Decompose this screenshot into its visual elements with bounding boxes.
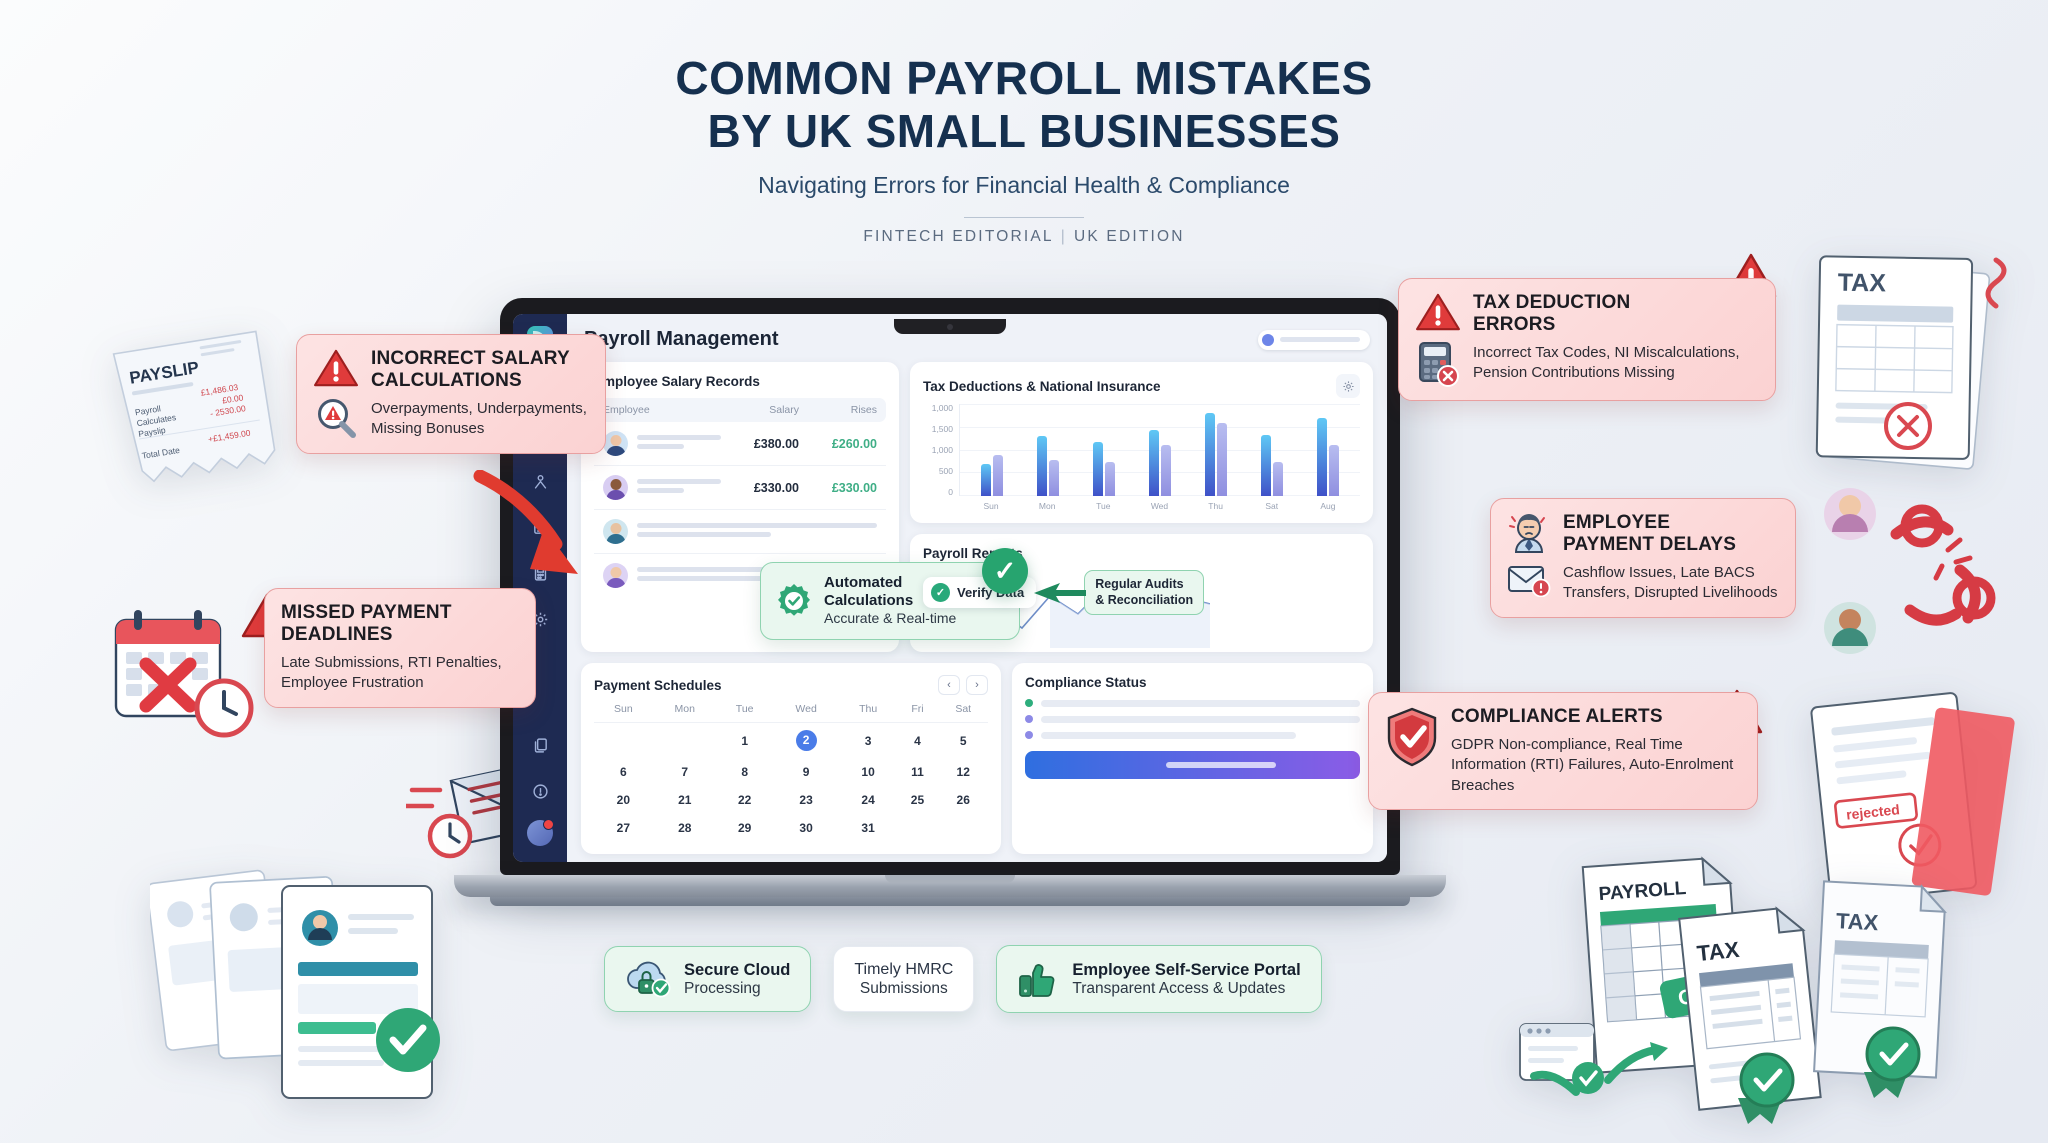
footer-pill-row: Secure Cloud Processing Timely HMRC Subm… — [604, 945, 1322, 1013]
callout-icons — [1507, 512, 1551, 604]
chart-bar — [1037, 436, 1047, 496]
calendar-day-empty — [594, 723, 653, 759]
column-employee: Employee — [603, 404, 721, 416]
calculator-error-icon — [1416, 341, 1460, 387]
calendar-weekday: Mon — [653, 703, 717, 723]
calendar-weekday: Wed — [772, 703, 839, 723]
employee-name-placeholder — [637, 479, 721, 497]
calendar-weekday: Thu — [840, 703, 897, 723]
callout-tax-deduction-errors: TAX DEDUCTIONERRORS Incorrect Tax Codes,… — [1398, 278, 1776, 401]
compliance-card-title: Compliance Status — [1025, 675, 1360, 690]
next-month-button[interactable]: › — [966, 675, 988, 695]
calendar-day[interactable]: 2 — [772, 723, 839, 759]
payslip-decor: PAYSLIP Payroll Calculates Payslip Total… — [100, 322, 290, 507]
edition-separator: | — [1061, 228, 1067, 245]
chart-bar-group — [1205, 413, 1228, 496]
chart-plot: 1,000 1,500 1,000 500 0 — [923, 404, 1360, 496]
chart-bar — [993, 455, 1003, 496]
callout-incorrect-salary-calculations: INCORRECT SALARYCALCULATIONS Overpayment… — [296, 334, 606, 454]
svg-text:TAX: TAX — [1837, 269, 1886, 298]
calendar-day[interactable]: 11 — [897, 758, 939, 786]
calendar-day[interactable]: 31 — [840, 814, 897, 842]
x-tick: Sun — [974, 501, 1008, 511]
x-tick: Wed — [1142, 501, 1176, 511]
calendar-week-row: 2728293031 — [594, 814, 988, 842]
y-tick: 1,500 — [932, 425, 953, 434]
gear-check-icon — [775, 582, 813, 620]
warning-triangle-icon — [313, 348, 359, 388]
x-tick: Aug — [1311, 501, 1345, 511]
status-bar — [1041, 716, 1360, 723]
chart-bar — [1273, 462, 1283, 496]
row-salary: £380.00 — [721, 437, 799, 451]
chart-bars-area — [959, 404, 1360, 496]
frustrated-employee-icon — [1507, 512, 1551, 554]
pill-caption: Processing — [684, 980, 761, 997]
callout-employee-payment-delays: EMPLOYEEPAYMENT DELAYS Cashflow Issues, … — [1490, 498, 1796, 618]
calendar-day-empty — [938, 814, 988, 842]
x-tick: Thu — [1199, 501, 1233, 511]
salary-card-title: Employee Salary Records — [594, 374, 886, 389]
calendar-nav: ‹ › — [938, 675, 988, 695]
compliance-item — [1025, 731, 1360, 739]
laptop-lid: Payroll Management Employee Salary Recor… — [500, 298, 1400, 875]
x-tick: Mon — [1030, 501, 1064, 511]
laptop-foot — [490, 897, 1410, 906]
status-dot-purple — [1025, 715, 1033, 723]
compliance-progress-bar — [1025, 751, 1360, 779]
calendar-weekday-row: SunMonTueWedThuFriSat — [594, 703, 988, 723]
page-subtitle: Navigating Errors for Financial Health &… — [0, 172, 2048, 199]
column-rises: Rises — [799, 404, 877, 416]
title-line-2: BY UK SMALL BUSINESSES — [0, 105, 2048, 158]
employee-name-placeholder — [637, 523, 877, 541]
callout-compliance-alerts: COMPLIANCE ALERTS GDPR Non-compliance, R… — [1368, 692, 1758, 810]
calendar-weekday: Sun — [594, 703, 653, 723]
mail-alert-icon — [1507, 563, 1551, 597]
broken-chain-decor — [1810, 478, 2030, 668]
chart-bar — [1205, 413, 1215, 496]
calendar-day[interactable]: 26 — [938, 786, 988, 814]
calendar-day[interactable]: 21 — [653, 786, 717, 814]
chart-title: Tax Deductions & National Insurance — [923, 379, 1161, 394]
status-bar — [1041, 700, 1360, 707]
chart-header: Tax Deductions & National Insurance — [923, 374, 1360, 398]
calendar-day[interactable]: 7 — [653, 758, 717, 786]
callout-body: Incorrect Tax Codes, NI Miscalculations,… — [1473, 343, 1759, 384]
warning-triangle-icon — [1415, 292, 1461, 332]
magnifier-warning-icon — [315, 397, 357, 439]
calendar-week-row: 12345 — [594, 723, 988, 759]
pill-title: Secure Cloud — [684, 960, 790, 981]
calendar-day[interactable]: 1 — [717, 723, 773, 759]
employee-name-placeholder — [637, 435, 721, 453]
calendar-day[interactable]: 30 — [772, 814, 839, 842]
calendar-day[interactable]: 22 — [717, 786, 773, 814]
pill-title: Timely HMRC — [854, 960, 953, 980]
callout-text: TAX DEDUCTIONERRORS Incorrect Tax Codes,… — [1473, 292, 1759, 387]
chart-bar — [1329, 445, 1339, 496]
pill-employee-self-service[interactable]: Employee Self-Service Portal Transparent… — [996, 945, 1321, 1013]
pill-text: Employee Self-Service Portal Transparent… — [1072, 960, 1300, 999]
calendar-day-empty — [653, 723, 717, 759]
status-dot-purple — [1025, 731, 1033, 739]
callout-icons — [1385, 706, 1439, 796]
chart-bar — [1093, 442, 1103, 496]
laptop-mockup: Payroll Management Employee Salary Recor… — [500, 298, 1400, 906]
y-tick: 500 — [939, 467, 953, 476]
pill-title: Employee Self-Service Portal — [1072, 960, 1300, 981]
schedule-header: Payment Schedules ‹ › — [594, 675, 988, 695]
y-tick: 0 — [948, 488, 953, 497]
shield-check-icon — [1385, 706, 1439, 768]
row-rise: £330.00 — [799, 481, 877, 495]
callout-missed-payment-deadlines: MISSED PAYMENTDEADLINES Late Submissions… — [264, 588, 536, 708]
pill-text: Secure Cloud Processing — [684, 960, 790, 999]
audits-line-1: Regular Audits — [1095, 577, 1193, 593]
red-pointer-arrow — [470, 470, 620, 600]
edition-line: FINTECH EDITORIAL|UK EDITION — [0, 228, 2048, 246]
callout-heading: INCORRECT SALARYCALCULATIONS — [371, 348, 589, 392]
green-arrow-icon — [1034, 583, 1086, 603]
thumbs-up-icon — [1017, 959, 1059, 999]
row-rise: £260.00 — [799, 437, 877, 451]
calendar-grid: SunMonTueWedThuFriSat 123456789101112202… — [594, 703, 988, 842]
edition-left: FINTECH EDITORIAL — [863, 228, 1053, 245]
callout-body: Overpayments, Underpayments, Missing Bon… — [371, 399, 589, 440]
pill-caption: Transparent Access & Updates — [1072, 980, 1285, 997]
status-dot-green — [1025, 699, 1033, 707]
chart-bar — [1105, 462, 1115, 496]
dashboard-row-bottom: Payment Schedules ‹ › SunMonTueWedThuFri… — [581, 663, 1373, 854]
compliance-item — [1025, 699, 1360, 707]
app-screen: Payroll Management Employee Salary Recor… — [513, 314, 1387, 862]
calendar-day[interactable]: 29 — [717, 814, 773, 842]
dashboard-row-top: Employee Salary Records Employee Salary … — [581, 362, 1373, 652]
callout-body: Cashflow Issues, Late BACS Transfers, Di… — [1563, 563, 1779, 604]
chart-bar-group — [981, 455, 1004, 496]
chart-bar — [1161, 445, 1171, 496]
pill-caption: Submissions — [860, 980, 948, 997]
calendar-day[interactable]: 3 — [840, 723, 897, 759]
calendar-day[interactable]: 12 — [938, 758, 988, 786]
edition-right: UK EDITION — [1074, 228, 1185, 245]
schedule-card-title: Payment Schedules — [594, 678, 722, 693]
callout-icons — [313, 348, 359, 440]
sidebar-user-avatar[interactable] — [527, 820, 553, 846]
header-toggle[interactable] — [1258, 330, 1370, 350]
pill-secure-cloud[interactable]: Secure Cloud Processing — [604, 946, 811, 1013]
x-axis: SunMonTueWedThuSatAug — [923, 496, 1360, 511]
callout-body: Late Submissions, RTI Penalties, Employe… — [281, 653, 519, 694]
chart-bar — [1049, 460, 1059, 496]
pill-text: Timely HMRC Submissions — [854, 960, 953, 998]
row-salary: £330.00 — [721, 481, 799, 495]
gear-icon[interactable] — [1336, 374, 1360, 398]
calendar-week-row: 6789101112 — [594, 758, 988, 786]
avatar — [603, 431, 628, 456]
salary-table-header: Employee Salary Rises — [594, 398, 886, 422]
calendar-weekday: Fri — [897, 703, 939, 723]
calendar-week-row: 20212223242526 — [594, 786, 988, 814]
y-tick: 1,000 — [932, 404, 953, 413]
chart-bar-group — [1037, 436, 1060, 496]
callout-heading: TAX DEDUCTIONERRORS — [1473, 292, 1759, 336]
calendar-day[interactable]: 28 — [653, 814, 717, 842]
callout-text: INCORRECT SALARYCALCULATIONS Overpayment… — [371, 348, 589, 440]
calendar-day[interactable]: 10 — [840, 758, 897, 786]
chart-bar — [1217, 423, 1227, 496]
check-icon: ✓ — [931, 583, 950, 602]
chart-bar-group — [1093, 442, 1116, 496]
calendar-body: 123456789101112202122232425262728293031 — [594, 723, 988, 843]
prev-month-button[interactable]: ‹ — [938, 675, 960, 695]
calendar-day[interactable]: 24 — [840, 786, 897, 814]
compliance-status-card: Compliance Status — [1012, 663, 1373, 854]
title-line-1: COMMON PAYROLL MISTAKES — [0, 52, 2048, 105]
callout-text: COMPLIANCE ALERTS GDPR Non-compliance, R… — [1451, 706, 1741, 796]
calendar-day[interactable]: 23 — [772, 786, 839, 814]
chart-bar — [981, 464, 991, 496]
chart-bar-group — [1261, 435, 1284, 496]
page-title: COMMON PAYROLL MISTAKES BY UK SMALL BUSI… — [0, 52, 2048, 158]
cloud-lock-icon — [625, 960, 671, 998]
compliance-item — [1025, 715, 1360, 723]
calendar-day[interactable]: 20 — [594, 786, 653, 814]
chart-bar — [1261, 435, 1271, 496]
callout-heading: EMPLOYEEPAYMENT DELAYS — [1563, 512, 1779, 556]
callout-text: EMPLOYEEPAYMENT DELAYS Cashflow Issues, … — [1563, 512, 1779, 604]
tax-deductions-chart-card: Tax Deductions & National Insurance — [910, 362, 1373, 523]
calendar-day[interactable]: 5 — [938, 723, 988, 759]
app-content: Payroll Management Employee Salary Recor… — [567, 314, 1387, 862]
x-tick: Tue — [1086, 501, 1120, 511]
calendar-day[interactable]: 8 — [717, 758, 773, 786]
status-bar — [1041, 732, 1296, 739]
calendar-day-empty — [897, 814, 939, 842]
chart-bar-groups — [960, 404, 1360, 496]
employee-documents-decor — [150, 862, 490, 1132]
chart-bar — [1149, 430, 1159, 496]
table-row[interactable]: £330.00 £330.00 — [594, 466, 886, 510]
column-salary: Salary — [721, 404, 799, 416]
calendar-day[interactable]: 4 — [897, 723, 939, 759]
callout-heading: COMPLIANCE ALERTS — [1451, 706, 1741, 728]
success-check-icon: ✓ — [982, 548, 1028, 594]
x-tick: Sat — [1255, 501, 1289, 511]
sidebar-item-documents[interactable] — [521, 728, 559, 762]
laptop-notch — [894, 319, 1006, 334]
calendar-weekday: Sat — [938, 703, 988, 723]
app-title: Payroll Management — [584, 328, 779, 351]
calendar-day[interactable]: 27 — [594, 814, 653, 842]
payment-schedules-card: Payment Schedules ‹ › SunMonTueWedThuFri… — [581, 663, 1001, 854]
table-row[interactable]: £380.00 £260.00 — [594, 422, 886, 466]
calendar-weekday: Tue — [717, 703, 773, 723]
callout-text: MISSED PAYMENTDEADLINES Late Submissions… — [281, 602, 519, 694]
payroll-tax-documents-decor: PAYROLL OK TAX — [1500, 848, 1980, 1138]
chart-bar — [1317, 418, 1327, 496]
audits-line-2: & Reconciliation — [1095, 593, 1193, 609]
y-axis: 1,000 1,500 1,000 500 0 — [923, 404, 959, 496]
infographic-canvas: COMMON PAYROLL MISTAKES BY UK SMALL BUSI… — [0, 0, 2048, 1143]
pill-timely-hmrc[interactable]: Timely HMRC Submissions — [833, 946, 974, 1012]
header: COMMON PAYROLL MISTAKES BY UK SMALL BUSI… — [0, 52, 2048, 246]
y-tick: 1,000 — [932, 446, 953, 455]
regular-audits-badge: Regular Audits & Reconciliation — [1084, 570, 1204, 615]
calendar-day[interactable]: 6 — [594, 758, 653, 786]
sidebar-item-help[interactable] — [521, 774, 559, 808]
laptop-base — [454, 875, 1446, 897]
chart-bar-group — [1317, 418, 1340, 496]
callout-icons — [1415, 292, 1461, 387]
svg-text:TAX: TAX — [1835, 908, 1879, 935]
table-row[interactable] — [594, 510, 886, 554]
right-column: Tax Deductions & National Insurance — [910, 362, 1373, 652]
callout-heading: MISSED PAYMENTDEADLINES — [281, 602, 519, 646]
calendar-day[interactable]: 9 — [772, 758, 839, 786]
divider-rule — [964, 217, 1084, 218]
chart-bar-group — [1149, 430, 1172, 496]
callout-body: GDPR Non-compliance, Real Time Informati… — [1451, 735, 1741, 796]
svg-text:TAX: TAX — [1696, 937, 1741, 966]
calendar-day[interactable]: 25 — [897, 786, 939, 814]
